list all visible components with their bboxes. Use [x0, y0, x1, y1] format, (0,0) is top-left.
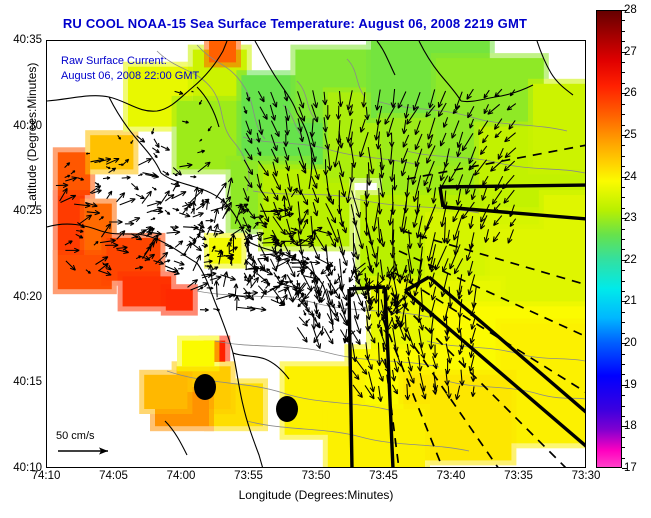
colorbar-tick-mark — [622, 218, 627, 219]
colorbar-tick-mark — [622, 301, 627, 302]
arrow-right-icon — [56, 445, 116, 457]
current-vector — [147, 201, 161, 206]
current-vector — [216, 183, 227, 199]
x-axis-title: Longitude (Degrees:Minutes) — [46, 488, 586, 502]
current-vector — [306, 319, 310, 323]
colorbar-minor-tick — [622, 208, 625, 209]
current-vector — [193, 255, 200, 271]
colorbar-minor-tick — [622, 374, 625, 375]
figure-title: RU COOL NOAA-15 Sea Surface Temperature:… — [0, 16, 590, 31]
current-vector — [131, 183, 138, 190]
colorbar-minor-tick — [622, 270, 625, 271]
x-axis-tick-label: 74:05 — [99, 470, 128, 482]
annotation-line-1: Raw Surface Current: — [61, 55, 167, 67]
current-vector — [122, 176, 131, 179]
current-vector — [266, 283, 270, 288]
colorbar-minor-tick — [622, 41, 625, 42]
colorbar-minor-tick — [622, 416, 625, 417]
colorbar-tick-mark — [622, 260, 627, 261]
current-vector — [174, 261, 184, 265]
colorbar-minor-tick — [622, 229, 625, 230]
x-axis-tick-label: 73:55 — [234, 470, 263, 482]
colorbar-minor-tick — [622, 72, 625, 73]
current-vector — [213, 308, 219, 310]
y-axis-tick-label: 40:20 — [13, 291, 42, 303]
velocity-scale-key: 50 cm/s — [56, 430, 116, 460]
x-axis-tick-label: 73:50 — [302, 470, 331, 482]
current-vector — [224, 272, 228, 287]
current-vector — [196, 204, 205, 210]
y-axis-tick-label: 40:10 — [13, 462, 42, 474]
current-vector — [261, 290, 267, 298]
colorbar — [596, 10, 622, 468]
sst-map-figure: RU COOL NOAA-15 Sea Surface Temperature:… — [0, 0, 651, 518]
current-vector — [206, 219, 214, 222]
current-vector — [343, 268, 346, 273]
current-vector — [245, 245, 253, 262]
current-vector — [284, 289, 286, 294]
colorbar-tick-mark — [622, 52, 627, 53]
colorbar-gradient — [597, 11, 621, 467]
current-vector — [167, 230, 181, 235]
current-vector — [138, 174, 142, 176]
x-axis-tick-label: 73:35 — [504, 470, 533, 482]
annotation-line-2: August 06, 2008 22:00 GMT — [61, 70, 199, 82]
current-vector — [179, 213, 190, 217]
current-vector — [107, 191, 112, 199]
current-vector — [297, 273, 299, 277]
current-vector — [275, 276, 281, 278]
current-vector — [152, 148, 159, 153]
colorbar-tick-mark — [622, 135, 627, 136]
sst-pixel-blend — [539, 190, 586, 286]
colorbar-minor-tick — [622, 239, 625, 240]
colorbar-minor-tick — [622, 156, 625, 157]
colorbar-minor-tick — [622, 437, 625, 438]
current-vector — [173, 208, 179, 211]
sst-pixel-blend — [177, 336, 219, 372]
current-vector — [190, 237, 197, 242]
current-vector — [192, 91, 194, 92]
current-vector — [138, 159, 151, 166]
current-vector — [341, 299, 346, 314]
x-axis-tick-label: 73:40 — [437, 470, 466, 482]
current-vector — [334, 266, 336, 271]
sst-pixel-blend — [85, 130, 138, 174]
colorbar-tick-mark — [622, 426, 627, 427]
colorbar-tick-mark — [622, 468, 627, 469]
current-vector — [237, 307, 255, 311]
current-vector — [200, 308, 209, 311]
current-vector — [310, 271, 312, 277]
current-vector — [330, 329, 334, 332]
colorbar-tick-mark — [622, 385, 627, 386]
x-axis-tick-label: 74:00 — [167, 470, 196, 482]
current-vector — [297, 280, 299, 286]
colorbar-minor-tick — [622, 249, 625, 250]
colorbar-minor-tick — [622, 333, 625, 334]
colorbar-tick-mark — [622, 10, 627, 11]
current-vector — [154, 153, 158, 158]
x-axis-tick-label: 73:30 — [572, 470, 601, 482]
current-vector — [120, 199, 136, 205]
sst-pixel-blend — [204, 233, 246, 269]
current-vector — [136, 194, 145, 198]
colorbar-tick-mark — [622, 177, 627, 178]
current-vector — [178, 268, 184, 270]
current-vector — [143, 173, 158, 177]
current-vector — [297, 327, 307, 342]
current-vector — [270, 259, 276, 272]
current-vector — [257, 274, 269, 284]
current-vector — [214, 209, 218, 223]
current-vector — [235, 296, 240, 311]
current-vector — [152, 187, 156, 190]
current-vector — [303, 257, 310, 260]
colorbar-minor-tick — [622, 145, 625, 146]
colorbar-minor-tick — [622, 31, 625, 32]
current-vector — [175, 241, 183, 248]
current-vector — [161, 146, 170, 150]
station-marker — [276, 396, 298, 422]
current-vector — [190, 176, 196, 178]
current-vector — [154, 139, 159, 148]
colorbar-minor-tick — [622, 20, 625, 21]
colorbar-tick-mark — [622, 343, 627, 344]
current-vector — [151, 218, 155, 220]
colorbar-minor-tick — [622, 364, 625, 365]
x-axis-tick-label: 73:45 — [369, 470, 398, 482]
sst-pixel-blend — [204, 41, 241, 67]
colorbar-minor-tick — [622, 312, 625, 313]
colorbar-minor-tick — [622, 166, 625, 167]
colorbar-minor-tick — [622, 458, 625, 459]
velocity-scale-label: 50 cm/s — [56, 430, 116, 442]
current-vector — [95, 183, 99, 186]
current-vector — [160, 191, 169, 205]
current-vector — [234, 284, 238, 294]
colorbar-minor-tick — [622, 62, 625, 63]
y-axis-tick-label: 40:15 — [13, 376, 42, 388]
current-vector — [129, 218, 140, 223]
y-axis-title: Latitude (Degrees:Minutes) — [25, 45, 39, 225]
colorbar-minor-tick — [622, 291, 625, 292]
colorbar-minor-tick — [622, 322, 625, 323]
colorbar-minor-tick — [622, 114, 625, 115]
colorbar-minor-tick — [622, 104, 625, 105]
current-vector — [117, 193, 125, 202]
colorbar-minor-tick — [622, 197, 625, 198]
current-vector — [165, 210, 170, 214]
colorbar-minor-tick — [622, 406, 625, 407]
colorbar-tick-mark — [622, 93, 627, 94]
current-vector — [304, 310, 306, 315]
colorbar-minor-tick — [622, 281, 625, 282]
current-vector — [103, 177, 110, 180]
station-marker — [194, 374, 216, 400]
current-vector — [327, 313, 333, 324]
sst-pixel-blend — [323, 404, 430, 468]
map-plot-area: Raw Surface Current: August 06, 2008 22:… — [46, 40, 586, 468]
colorbar-minor-tick — [622, 354, 625, 355]
map-canvas — [47, 41, 586, 468]
current-vector — [298, 302, 303, 307]
colorbar-minor-tick — [622, 125, 625, 126]
colorbar-minor-tick — [622, 83, 625, 84]
current-vector — [329, 280, 334, 296]
current-vector — [292, 265, 309, 270]
colorbar-minor-tick — [622, 447, 625, 448]
current-vector — [214, 281, 219, 298]
current-vector — [278, 287, 289, 292]
colorbar-minor-tick — [622, 187, 625, 188]
colorbar-minor-tick — [622, 395, 625, 396]
